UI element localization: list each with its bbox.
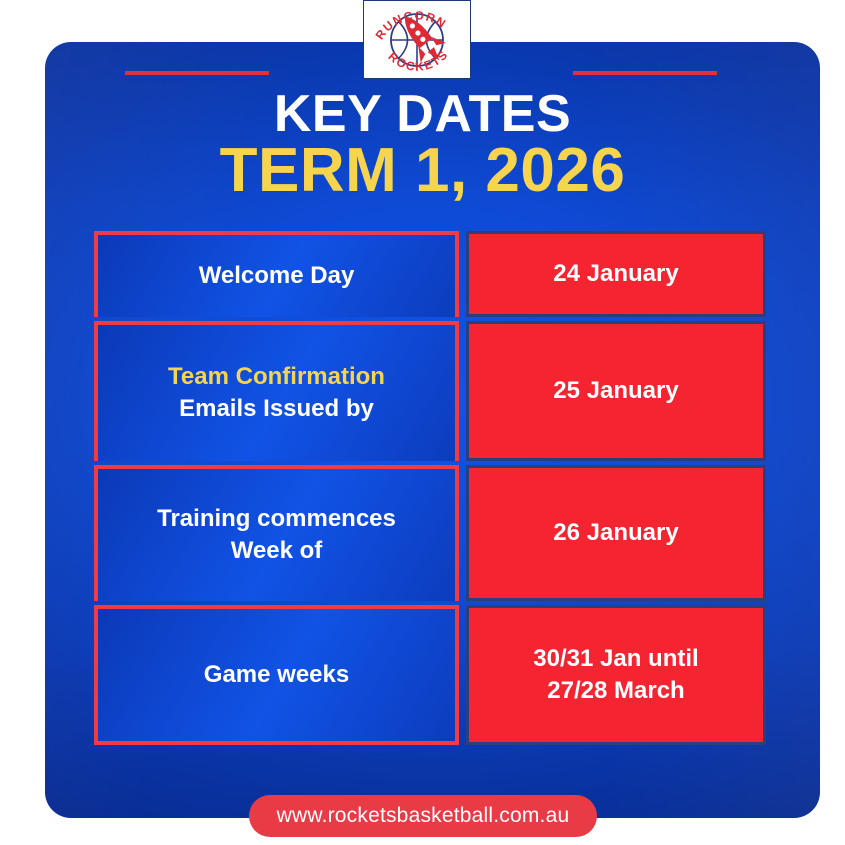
label-line: Emails Issued by (168, 393, 385, 425)
table-cell-date: 25 January (466, 321, 766, 461)
table-cell-date: 30/31 Jan until 27/28 March (466, 605, 766, 745)
date-line: 30/31 Jan until (533, 643, 698, 675)
label-line: Week of (157, 535, 396, 567)
table-cell-date: 26 January (466, 465, 766, 601)
table-cell-date: 24 January (466, 231, 766, 317)
header-rule-left (125, 71, 269, 75)
table-cell-label: Team Confirmation Emails Issued by (94, 321, 459, 461)
table-cell-label: Welcome Day (94, 231, 459, 317)
table-cell-label: Training commences Week of (94, 465, 459, 601)
key-dates-table: Welcome Day 24 January Team Confirmation… (94, 231, 766, 745)
label-line: Training commences (157, 503, 396, 535)
column-gap (459, 465, 466, 605)
date-line: 24 January (553, 258, 678, 290)
date-line: 26 January (553, 517, 678, 549)
table-row: Training commences Week of 26 January (94, 465, 766, 605)
label-line-accent: Team Confirmation (168, 361, 385, 393)
column-gap (459, 321, 466, 465)
column-gap (459, 605, 466, 745)
table-row: Team Confirmation Emails Issued by 25 Ja… (94, 321, 766, 465)
label-line: Welcome Day (199, 260, 355, 292)
date-line: 27/28 March (533, 675, 698, 707)
table-cell-label: Game weeks (94, 605, 459, 745)
runcorn-rockets-logo-icon: RUNCORN ROCKETS (363, 0, 471, 79)
label-line: Game weeks (204, 659, 349, 691)
table-row: Welcome Day 24 January (94, 231, 766, 321)
table-row: Game weeks 30/31 Jan until 27/28 March (94, 605, 766, 745)
date-line: 25 January (553, 375, 678, 407)
page-title-primary: KEY DATES (0, 88, 845, 140)
header-rule-right (573, 71, 717, 75)
website-url-badge[interactable]: www.rocketsbasketball.com.au (249, 795, 597, 837)
page-title-secondary: TERM 1, 2026 (0, 140, 845, 202)
poster-canvas: RUNCORN ROCKETS KEY DATES TERM 1, 2026 W… (0, 0, 845, 845)
column-gap (459, 231, 466, 321)
